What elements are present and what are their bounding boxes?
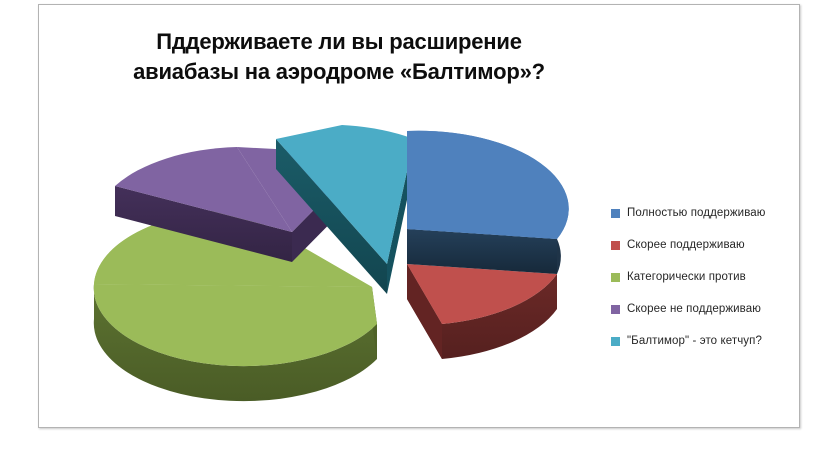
- legend-swatch-icon-1: [611, 241, 620, 250]
- legend-label-4: "Балтимор" - это кетчуп?: [627, 335, 762, 347]
- legend-item-4[interactable]: "Балтимор" - это кетчуп?: [611, 325, 826, 357]
- chart-title-line-1: Пддерживаете ли вы расширение: [89, 27, 589, 57]
- legend-swatch-icon-2: [611, 273, 620, 282]
- chart-legend: Полностью поддерживаю Скорее поддерживаю…: [611, 197, 826, 357]
- legend-item-1[interactable]: Скорее поддерживаю: [611, 229, 826, 261]
- legend-swatch-icon-0: [611, 209, 620, 218]
- chart-title-line-2: авиабазы на аэродроме «Балтимор»?: [89, 57, 589, 87]
- pie-slice-blue-side-cap: [557, 239, 561, 274]
- legend-label-0: Полностью поддерживаю: [627, 207, 766, 219]
- legend-label-2: Категорически против: [627, 271, 746, 283]
- pie-slice-blue[interactable]: [407, 131, 569, 274]
- legend-item-0[interactable]: Полностью поддерживаю: [611, 197, 826, 229]
- legend-label-1: Скорее поддерживаю: [627, 239, 745, 251]
- screenshot-canvas: Пддерживаете ли вы расширение авиабазы н…: [0, 0, 840, 450]
- legend-label-3: Скорее не поддерживаю: [627, 303, 761, 315]
- legend-item-3[interactable]: Скорее не поддерживаю: [611, 293, 826, 325]
- pie-slice-red[interactable]: [407, 264, 557, 359]
- legend-swatch-icon-4: [611, 337, 620, 346]
- pie-chart-3d: [87, 109, 597, 409]
- chart-title: Пддерживаете ли вы расширение авиабазы н…: [89, 27, 589, 86]
- pie-slice-blue-top-fill: [407, 131, 569, 239]
- legend-item-2[interactable]: Категорически против: [611, 261, 826, 293]
- pie-chart-plot-area: [87, 109, 597, 409]
- legend-swatch-icon-3: [611, 305, 620, 314]
- chart-frame: Пддерживаете ли вы расширение авиабазы н…: [38, 4, 800, 428]
